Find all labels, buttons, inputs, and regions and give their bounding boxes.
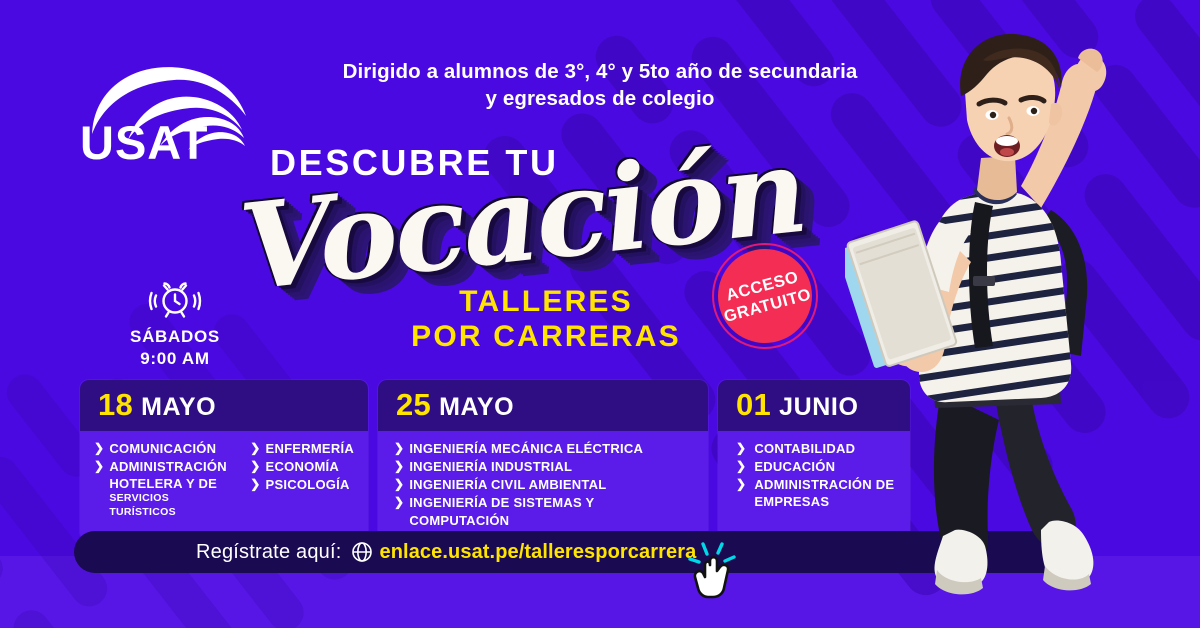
career-name: CONTABILIDAD — [754, 441, 855, 456]
career-name: PSICOLOGÍA — [266, 477, 350, 492]
jumping-student-illustration — [845, 0, 1200, 628]
career-name: INGENIERÍA DE SISTEMAS Y COMPUTACIÓN — [409, 495, 594, 527]
chevron-right-icon: ❯ — [94, 441, 104, 457]
usat-logo: USAT — [78, 58, 278, 168]
list-item: ❯ ADMINISTRACIÓN HOTELERA Y DE SERVICIOS… — [94, 458, 234, 520]
free-access-badge: ACCESO GRATUITO — [712, 243, 818, 349]
date-card-body: ❯ COMUNICACIÓN ❯ ADMINISTRACIÓN HOTELERA… — [80, 431, 368, 532]
chevron-right-icon: ❯ — [394, 459, 404, 475]
chevron-right-icon: ❯ — [394, 441, 404, 457]
audience-headline: Dirigido a alumnos de 3°, 4° y 5to año d… — [300, 58, 900, 113]
svg-text:USAT: USAT — [80, 116, 208, 168]
schedule-time: 9:00 AM — [112, 348, 238, 370]
badge-text: ACCESO GRATUITO — [700, 231, 830, 361]
title-subtitle-line2: POR CARRERAS — [396, 319, 696, 354]
date-card-header: 25 MAYO — [378, 380, 708, 431]
promo-banner: USAT Dirigido a alumnos de 3°, 4° y 5to … — [0, 0, 1200, 628]
career-name: INGENIERÍA CIVIL AMBIENTAL — [409, 477, 606, 492]
chevron-right-icon: ❯ — [736, 441, 746, 457]
date-card-day: 01 — [736, 387, 771, 423]
career-name: ENFERMERÍA — [266, 441, 354, 456]
date-card: 18 MAYO ❯ COMUNICACIÓN ❯ ADMINISTRACIÓN … — [80, 380, 368, 541]
list-item: ❯ INGENIERÍA DE SISTEMAS Y COMPUTACIÓN — [394, 494, 694, 528]
list-item: ❯ INGENIERÍA CIVIL AMBIENTAL — [394, 476, 694, 493]
register-url[interactable]: enlace.usat.pe/talleresporcarrera — [380, 541, 697, 564]
chevron-right-icon: ❯ — [250, 477, 260, 493]
chevron-right-icon: ❯ — [94, 459, 104, 475]
globe-icon — [351, 541, 373, 563]
career-name: ECONOMÍA — [266, 459, 340, 474]
workshop-date-cards: 18 MAYO ❯ COMUNICACIÓN ❯ ADMINISTRACIÓN … — [80, 380, 910, 541]
date-card-month: MAYO — [141, 393, 216, 422]
title-subtitle: TALLERES POR CARRERAS — [396, 284, 696, 354]
chevron-right-icon: ❯ — [736, 459, 746, 475]
schedule-block: SÁBADOS 9:00 AM — [112, 278, 238, 370]
schedule-day: SÁBADOS — [112, 326, 238, 348]
career-name: INGENIERÍA INDUSTRIAL — [409, 459, 572, 474]
date-card-header: 18 MAYO — [80, 380, 368, 431]
chevron-right-icon: ❯ — [394, 477, 404, 493]
usat-swoosh-logo-icon: USAT — [78, 58, 278, 168]
pointing-hand-cursor-icon — [686, 534, 748, 600]
chevron-right-icon: ❯ — [250, 441, 260, 457]
list-item: ❯ INGENIERÍA MECÁNICA ELÉCTRICA — [394, 440, 694, 457]
list-item: ❯ COMUNICACIÓN — [94, 440, 234, 457]
career-column: ❯ ENFERMERÍA ❯ ECONOMÍA ❯ PSICOLOGÍA — [250, 440, 354, 520]
chevron-right-icon: ❯ — [250, 459, 260, 475]
career-name-sub: SERVICIOS TURÍSTICOS — [109, 492, 234, 520]
chevron-right-icon: ❯ — [736, 477, 746, 493]
audience-headline-line1: Dirigido a alumnos de 3°, 4° y 5to año d… — [300, 58, 900, 85]
student-photo — [845, 0, 1200, 628]
date-card-day: 18 — [98, 387, 133, 423]
career-name: ADMINISTRACIÓN HOTELERA Y DE — [109, 459, 227, 491]
date-card-day: 25 — [396, 387, 431, 423]
career-name: EDUCACIÓN — [754, 459, 835, 474]
date-card-month: MAYO — [439, 393, 514, 422]
chevron-right-icon: ❯ — [394, 495, 404, 511]
career-name: COMUNICACIÓN — [109, 441, 216, 456]
audience-headline-line2: y egresados de colegio — [300, 85, 900, 112]
career-column: ❯ COMUNICACIÓN ❯ ADMINISTRACIÓN HOTELERA… — [94, 440, 234, 520]
alarm-clock-icon — [147, 278, 203, 320]
career-column: ❯ INGENIERÍA MECÁNICA ELÉCTRICA ❯ INGENI… — [394, 440, 694, 529]
list-item: ❯ INGENIERÍA INDUSTRIAL — [394, 458, 694, 475]
register-label: Regístrate aquí: — [196, 541, 342, 564]
title-subtitle-line1: TALLERES — [396, 284, 696, 319]
date-card-body: ❯ INGENIERÍA MECÁNICA ELÉCTRICA ❯ INGENI… — [378, 431, 708, 541]
date-card: 25 MAYO ❯ INGENIERÍA MECÁNICA ELÉCTRICA … — [378, 380, 708, 541]
title-script-wrap: Vocación — [240, 160, 760, 300]
list-item: ❯ PSICOLOGÍA — [250, 476, 354, 493]
career-name: INGENIERÍA MECÁNICA ELÉCTRICA — [409, 441, 643, 456]
list-item: ❯ ENFERMERÍA — [250, 440, 354, 457]
list-item: ❯ ECONOMÍA — [250, 458, 354, 475]
